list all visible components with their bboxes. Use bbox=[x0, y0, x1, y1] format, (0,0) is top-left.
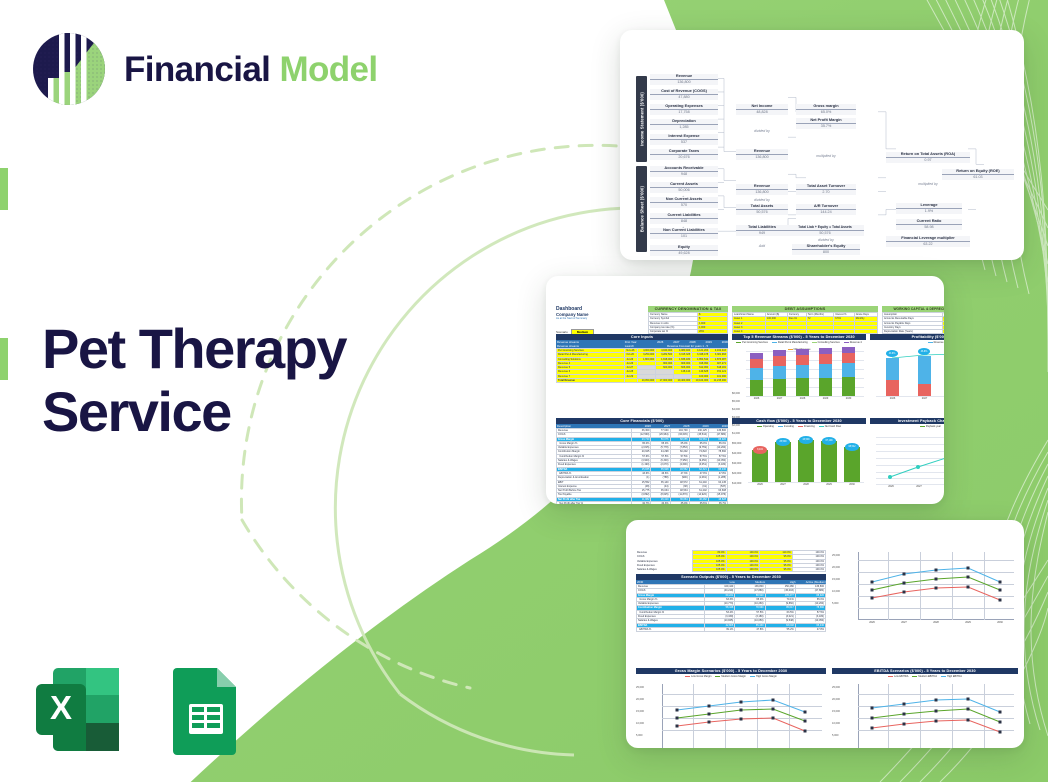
debt-table: Loan/Grant NameAmount ($)CurrencyTerm (M… bbox=[732, 312, 878, 334]
scenario-body: Revenue80.0%100.0%110.0%100.0% COGS105.0… bbox=[636, 550, 1016, 734]
chart-payback: Investment Payback Chart ($'000) - 5 Yea… bbox=[870, 418, 944, 428]
dashboard-note: As at the Start of Summary bbox=[556, 317, 642, 320]
chart-cashflow: Cash flow ($'000) - 5 Years to December … bbox=[732, 418, 866, 428]
dupont-node-interest: Interest Expense 537 bbox=[650, 134, 718, 145]
dupont-node-total-assets: Total Assets 50,576 bbox=[736, 204, 788, 215]
chart-profitability-plot: 43.6% 46.6% 47.3% 47.9% 47.8% 2026 2027 … bbox=[876, 350, 944, 396]
dupont-op-divided-2: divided by bbox=[736, 198, 788, 202]
dupont-op-divided-3: divided by bbox=[796, 238, 856, 242]
panel-currency-tax: CURRENCY DENOMINATION & TAX Currency Nam… bbox=[648, 306, 728, 334]
chart-profitability: Profitability ($'000) - 5 Years to Decem… bbox=[870, 334, 944, 344]
dupont-tree: Income Statement ($'000) Balance Sheet (… bbox=[628, 54, 1018, 242]
dupont-node-roe: Return on Equity (ROE) 61.03 bbox=[942, 169, 1014, 180]
panel-core-inputs: Core Inputs Revenue streams First Year 2… bbox=[556, 334, 728, 383]
chart-payback-legend: Payback year Cumulative Cash Generated (… bbox=[870, 425, 944, 428]
chart-ebitda-scenarios: EBITDA Scenarios ($'000) - 5 Years to De… bbox=[832, 668, 1018, 678]
dupont-node-current-liabilities: Current Liabilities 848 bbox=[650, 213, 718, 224]
dupont-node-ar: Accounts Receivable 948 bbox=[650, 166, 718, 177]
brand-word-financial: Financial bbox=[124, 50, 270, 89]
dupont-node-ar-turnover: A/R Turnover 144.24 bbox=[796, 204, 856, 215]
chart-profitability-scenarios-plot: 2026 2027 2028 2029 2030 bbox=[858, 552, 1014, 620]
svg-text:X: X bbox=[50, 689, 72, 726]
dupont-node-gross-margin: Gross margin 65.0% bbox=[796, 104, 856, 115]
dupont-node-net-income: Net Income 48,828 bbox=[736, 104, 788, 115]
panel-core-financials: Core Financials ($'000) Description 2026… bbox=[556, 418, 728, 504]
dupont-node-noncurrent-liabilities: Non Current Liabilities 101 bbox=[650, 228, 718, 239]
dupont-node-roa: Return on Total Assets (ROA) 0.97 bbox=[886, 152, 970, 163]
card-dashboard[interactable]: Dashboard Company Name As at the Start o… bbox=[546, 276, 944, 504]
chart-ebitda-legend: Low EBITDA Medium EBITDA High EBITDA bbox=[832, 675, 1018, 678]
chart-gross-margin-plot: 2026 2027 2028 2029 2030 bbox=[662, 684, 822, 748]
page-title: Pet Therapy Service bbox=[42, 318, 442, 443]
chart-gross-margin-scenarios: Gross Margin Scenarios ($'000) - 5 Years… bbox=[636, 668, 826, 678]
brand-word-model: Model bbox=[279, 50, 377, 89]
dupont-node-total-liab-equity: Total Liab + Equity = Total Assets 50,57… bbox=[786, 225, 864, 236]
excel-icon[interactable]: X bbox=[30, 662, 125, 757]
page-title-line2: Service bbox=[42, 381, 442, 444]
working-capital-table: AssumptionValue Accounts Receivable Days… bbox=[882, 312, 944, 334]
core-financials-table: Revenue36,30077,040104,700130,125136,800… bbox=[556, 428, 728, 504]
page-title-line1: Pet Therapy bbox=[42, 318, 442, 381]
chart-ebitda-plot: 2026 2027 2028 2029 2030 bbox=[858, 684, 1014, 748]
panel-debt-assumptions: DEBT ASSUMPTIONS Loan/Grant NameAmount (… bbox=[732, 306, 878, 334]
brand-logo[interactable]: Financial Model bbox=[32, 32, 378, 106]
chart-profitability-scenarios: 2026 2027 2028 2029 2030 25,000 20,000 1… bbox=[832, 550, 1018, 624]
scenario-assumptions: Revenue80.0%100.0%110.0%100.0% COGS105.0… bbox=[636, 550, 826, 572]
left-content-panel: Financial Model Pet Therapy Service X bbox=[0, 0, 470, 782]
chart-profitability-legend: Revenue EBITDA EBITDA % bbox=[870, 341, 944, 344]
dupont-node-revenue-2: Revenue 136,800 bbox=[736, 149, 788, 160]
dupont-op-multiplied-1: multiplied by bbox=[796, 154, 856, 158]
dupont-node-net-profit-margin: Net Profit Margin 35.7% bbox=[796, 118, 856, 129]
card-scenario-outputs[interactable]: Revenue80.0%100.0%110.0%100.0% COGS105.0… bbox=[626, 520, 1024, 748]
dupont-node-current-assets: Current Assets 50,006 bbox=[650, 182, 718, 193]
dupont-op-add: Add bbox=[736, 244, 788, 248]
dupont-node-opex: Operating Expenses 17,758 bbox=[650, 104, 718, 115]
dupont-op-divided-1: divided by bbox=[736, 129, 788, 133]
chart-top5-revenue: Top 5 Revenue Streams ($'000) - 5 Years … bbox=[732, 334, 866, 351]
dupont-node-equity: Equity 49,628 bbox=[650, 245, 718, 256]
dupont-node-shareholders-equity: Shareholder's Equity 800 bbox=[792, 244, 860, 255]
dashboard-header: Dashboard Company Name As at the Start o… bbox=[556, 306, 642, 335]
panel-scenario-outputs: Scenario Outputs ($'000) - 5 Years to De… bbox=[636, 574, 826, 632]
card-dupont-analysis[interactable]: Income Statement ($'000) Balance Sheet (… bbox=[620, 30, 1024, 260]
pie-bar-chart-circle-icon bbox=[32, 32, 106, 106]
dupont-node-leverage: Leverage 1.9% bbox=[896, 203, 962, 214]
chart-gross-margin-legend: Low Gross Margin Medium Gross Margin Hig… bbox=[636, 675, 826, 678]
dupont-node-taxes: Corporate Taxes 20,676 bbox=[650, 149, 718, 160]
dupont-node-revenue-3: Revenue 136,800 bbox=[736, 184, 788, 195]
scenario-outputs-table: Revenue109,440136,800150,480136,800 COGS… bbox=[636, 584, 826, 632]
chart-cashflow-legend: Operating Investing Financing Net Cash F… bbox=[732, 425, 866, 428]
dupont-node-depreciation: Depreciation 1,285 bbox=[650, 119, 718, 130]
scenario-assumptions-table: Revenue80.0%100.0%110.0%100.0% COGS105.0… bbox=[636, 550, 826, 572]
dupont-node-noncurrent-assets: Non Current Assets 570 bbox=[650, 197, 718, 208]
dupont-node-revenue: Revenue 136,800 bbox=[650, 74, 718, 85]
dupont-node-total-asset-turnover: Total Asset Turnover 2.70 bbox=[796, 184, 856, 195]
dashboard-body: Dashboard Company Name As at the Start o… bbox=[556, 306, 936, 490]
chart-cashflow-plot: 8,484 25,590 43,590 67,199 68,542 2026 2… bbox=[748, 432, 864, 482]
google-sheets-icon[interactable] bbox=[157, 662, 252, 757]
currency-table: Currency Name$ Currency Symbol$ Revenue … bbox=[648, 312, 728, 334]
file-format-icons: X bbox=[30, 662, 252, 757]
dupont-node-total-liabilities: Total Liabilities 949 bbox=[736, 225, 788, 236]
chart-payback-plot: 2026 2027 2028 2029 2030 bbox=[876, 432, 944, 484]
dupont-node-cogs: Cost of Revenue (COGS) 47,880 bbox=[650, 89, 718, 100]
brand-wordmark: Financial Model bbox=[124, 52, 378, 87]
dupont-op-multiplied-2: multiplied by bbox=[886, 182, 970, 186]
panel-working-capital: WORKING CAPITAL & DEPRECIATION Assumptio… bbox=[882, 306, 944, 334]
dupont-node-current-ratio: Current Ratio 58.98 bbox=[896, 219, 962, 230]
promo-slide: Financial Model Pet Therapy Service X bbox=[0, 0, 1048, 782]
chart-top5-plot: 2026 2027 2028 2029 2030 bbox=[746, 350, 864, 396]
core-inputs-table: Pet Grooming ServicesNov-264,000,0004,04… bbox=[556, 348, 728, 383]
dupont-node-financial-leverage: Financial Leverage multiplier 63.22 bbox=[886, 236, 970, 247]
